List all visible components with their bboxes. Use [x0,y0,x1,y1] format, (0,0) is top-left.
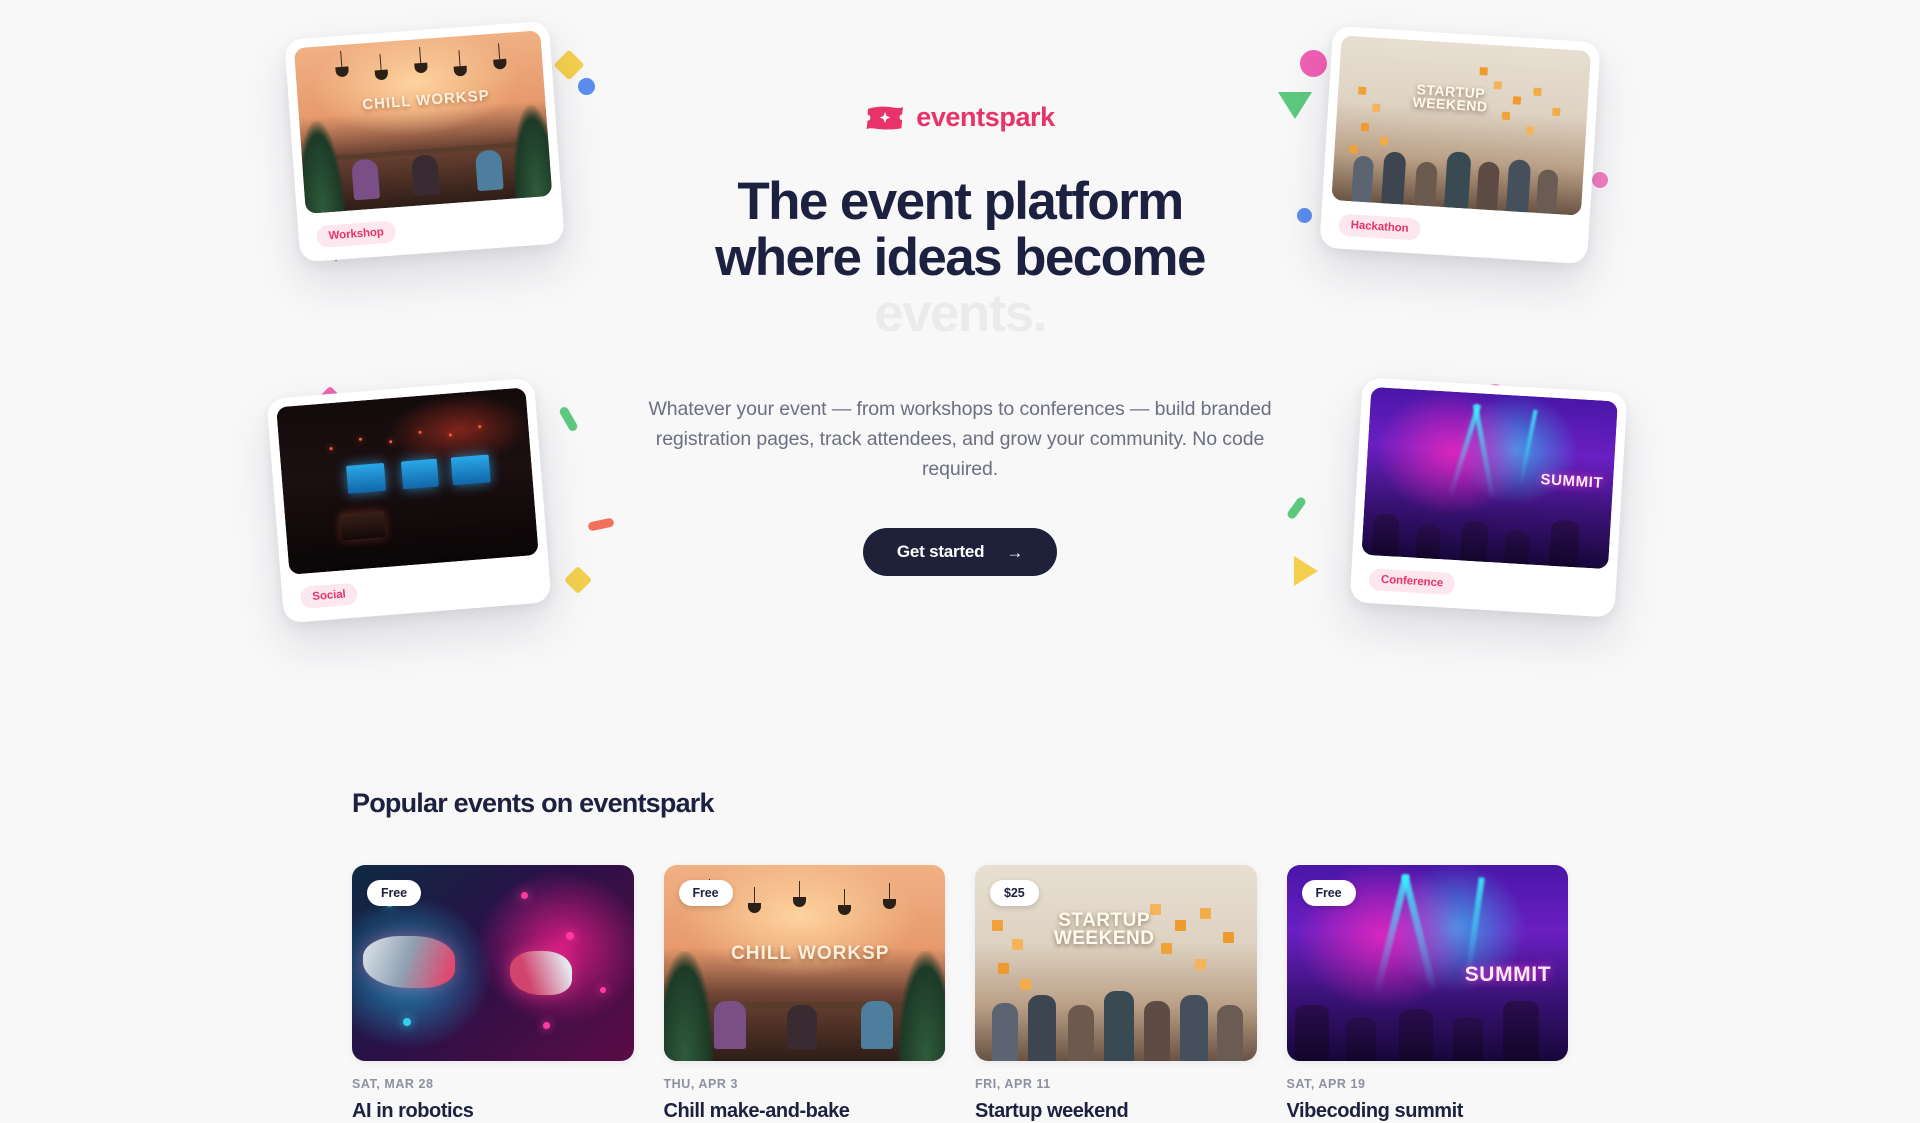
category-pill-social: Social [300,582,359,609]
floating-card-photo-conference: SUMMIT [1361,387,1618,569]
brand-name: eventspark [916,102,1055,133]
decor-circle-blue-left [578,78,595,95]
event-title: Chill make-and-bake [664,1100,946,1123]
event-date: SAT, APR 19 [1287,1077,1569,1091]
hero-cta-wrap: Get started → [640,528,1280,576]
event-card[interactable]: Free SUMMIT SAT, APR 19 Vibecoding su [1287,865,1569,1123]
event-grid: Free SAT, MAR 28 AI in robotics [352,865,1568,1123]
decor-circle-pink-right [1300,50,1327,77]
floating-card-photo-social [276,387,539,575]
floating-card-photo-hackathon: STARTUPWEEKEND [1331,35,1591,215]
hero-content: eventspark The event platform where idea… [640,96,1280,576]
photo-sign-conference: SUMMIT [1465,963,1551,987]
event-card[interactable]: $25 STARTUPWEEKEND [975,865,1257,1123]
popular-events-section: Popular events on eventspark Free [0,740,1920,1123]
event-title: AI in robotics [352,1100,634,1123]
hero-headline: The event platform where ideas become ev… [640,174,1280,342]
event-date: SAT, MAR 28 [352,1077,634,1091]
price-badge: $25 [990,880,1039,906]
floating-card-workshop[interactable]: CHILL WORKSP Workshop [284,21,565,263]
ticket-sparkle-icon [865,104,905,131]
event-thumbnail: Free SUMMIT [1287,865,1569,1061]
event-title: Vibecoding summit [1287,1100,1569,1123]
arrow-right-icon: → [1006,544,1023,561]
event-date: FRI, APR 11 [975,1077,1257,1091]
decor-diamond-yellow-bottom-left [564,566,592,594]
floating-card-photo-workshop: CHILL WORKSP [294,30,552,214]
get-started-button[interactable]: Get started → [863,528,1057,576]
photo-sign-workshop: CHILL WORKSP [362,87,490,113]
category-pill-workshop: Workshop [316,220,397,248]
floating-card-social[interactable]: Social [266,378,551,624]
event-thumbnail: $25 STARTUPWEEKEND [975,865,1257,1061]
decor-rod-green-bottom-right [1286,496,1307,521]
headline-line-3: events. [874,284,1045,343]
event-thumbnail: Free [352,865,634,1061]
decor-rod-coral-bottom-left [587,517,614,531]
floating-card-hackathon[interactable]: STARTUPWEEKEND Hackathon [1319,26,1600,264]
floating-card-conference[interactable]: SUMMIT Conference [1350,377,1628,617]
brand-logo[interactable]: eventspark [640,96,1280,138]
price-badge: Free [679,880,733,906]
decor-triangle-green-right [1278,92,1312,119]
headline-line-2: where ideas become [715,228,1205,287]
get-started-label: Get started [897,542,985,562]
decor-diamond-yellow-left [553,49,584,80]
decor-circle-pink-right-edge [1592,172,1608,188]
photo-sign-workshop: CHILL WORKSP [731,943,889,965]
photo-sign-hackathon: STARTUPWEEKEND [1412,83,1489,114]
popular-events-title: Popular events on eventspark [352,740,1568,819]
photo-sign-hackathon: STARTUPWEEKEND [1054,912,1155,948]
hero-section: CHILL WORKSP Workshop [0,0,1920,740]
headline-line-1: The event platform [737,172,1182,231]
event-date: THU, APR 3 [664,1077,946,1091]
event-thumbnail: Free CHILL WORKSP [664,865,946,1061]
decor-rod-green-bottom-left [558,405,579,432]
hero-subtitle: Whatever your event — from workshops to … [640,394,1280,484]
decor-circle-blue-right [1297,208,1312,223]
decor-triangle-yellow-bottom-right [1294,556,1318,586]
photo-sign-conference: SUMMIT [1540,471,1604,492]
price-badge: Free [1302,880,1356,906]
event-card[interactable]: Free SAT, MAR 28 AI in robotics [352,865,634,1123]
event-title: Startup weekend [975,1100,1257,1123]
price-badge: Free [367,880,421,906]
event-card[interactable]: Free CHILL WORKSP [664,865,946,1123]
category-pill-conference: Conference [1368,568,1455,595]
category-pill-hackathon: Hackathon [1338,214,1421,241]
